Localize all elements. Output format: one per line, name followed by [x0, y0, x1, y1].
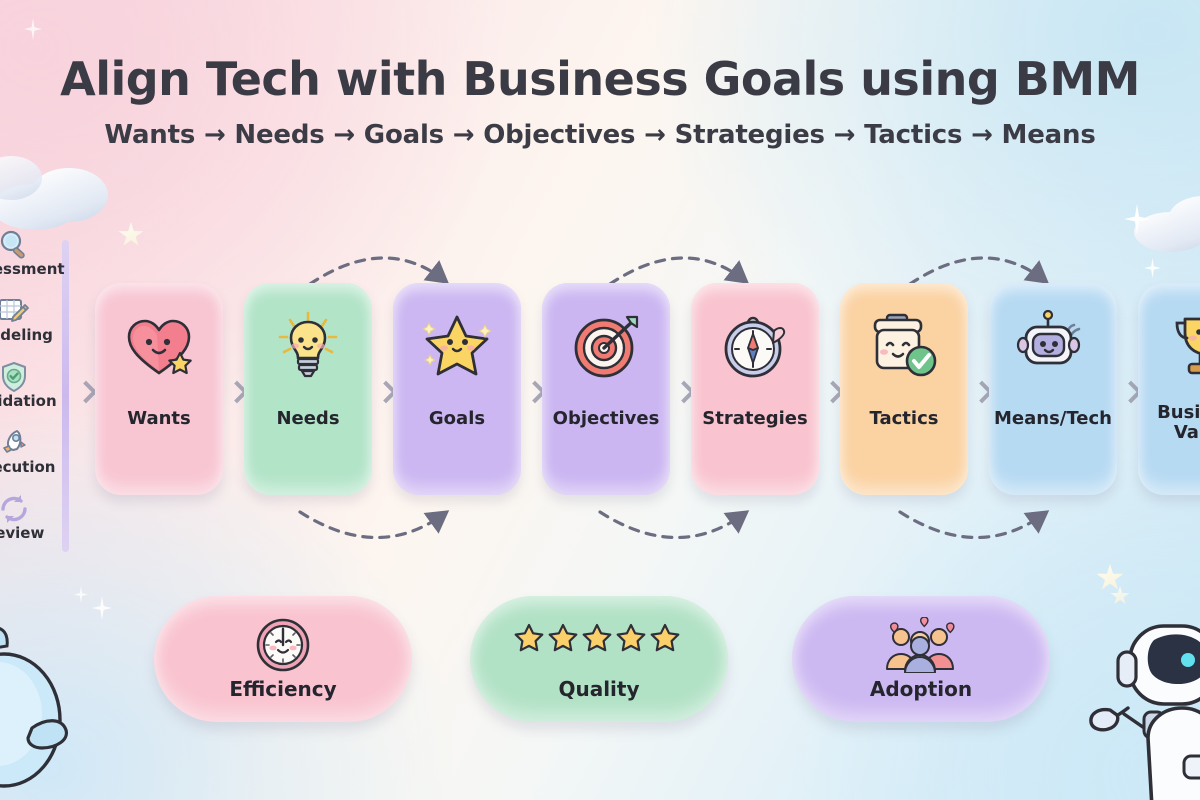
star-sparkle-icon	[118, 222, 144, 248]
flow-card-objectives[interactable]: Objectives	[542, 283, 670, 495]
flow-card-label: Goals	[393, 409, 521, 429]
outcome-pill-adoption[interactable]: Adoption	[792, 596, 1050, 722]
flow-card-label: Needs	[244, 409, 372, 429]
star-sparkle-icon	[1124, 204, 1150, 234]
compass-icon	[718, 309, 792, 383]
robot-icon	[1016, 309, 1090, 383]
flow-card-needs[interactable]: Needs	[244, 283, 372, 495]
dashed-curved-arrow-icon	[0, 500, 1200, 570]
lightbulb-icon	[271, 309, 345, 383]
star-sparkle-icon	[24, 18, 42, 40]
clock-icon	[252, 617, 314, 673]
flow-card-strategies[interactable]: Strategies	[691, 283, 819, 495]
flow-card-label: Business Value	[1138, 403, 1200, 443]
outcome-pill-quality[interactable]: Quality	[470, 596, 728, 722]
people-hearts-icon	[861, 617, 981, 673]
flow-card-means-tech[interactable]: Means/Tech	[989, 283, 1117, 495]
flow-card-business-value[interactable]: Business Value	[1138, 283, 1200, 495]
flow-card-label: Means/Tech	[989, 409, 1117, 429]
flow-card-label: Objectives	[542, 409, 670, 429]
outcome-pill-label: Quality	[558, 677, 639, 701]
flow-card-tactics[interactable]: Tactics	[840, 283, 968, 495]
outcome-pill-label: Efficiency	[229, 677, 336, 701]
header: Align Tech with Business Goals using BMM…	[0, 52, 1200, 150]
refresh-cycle-icon	[0, 492, 31, 526]
sidebar-item-label: Review	[0, 524, 44, 542]
outcome-pills-row: Efficiency Quality	[0, 596, 1200, 732]
target-icon	[569, 309, 643, 383]
outcome-pill-label: Adoption	[870, 677, 972, 701]
star-sparkle-icon	[1144, 258, 1161, 278]
flow-card-label: Tactics	[840, 409, 968, 429]
page-title: Align Tech with Business Goals using BMM	[0, 52, 1200, 106]
outcome-pill-efficiency[interactable]: Efficiency	[154, 596, 412, 722]
flow-card-goals[interactable]: Goals	[393, 283, 521, 495]
checklist-icon	[867, 309, 941, 383]
flow-card-label: Wants	[95, 409, 223, 429]
sidebar-item-label: Assessment	[0, 260, 65, 278]
trophy-icon	[1169, 309, 1200, 383]
sidebar-item-review[interactable]: Review	[0, 492, 64, 558]
flow-card-label: Strategies	[691, 409, 819, 429]
star-icon	[420, 309, 494, 383]
magnifier-icon	[0, 228, 31, 262]
cloud-icon	[0, 150, 136, 224]
stars-icon	[511, 617, 687, 673]
bmm-flow-row: Wants Needs	[0, 283, 1200, 495]
flow-card-wants[interactable]: Wants	[95, 283, 223, 495]
page-subtitle: Wants → Needs → Goals → Objectives → Str…	[0, 120, 1200, 150]
heart-icon	[122, 309, 196, 383]
